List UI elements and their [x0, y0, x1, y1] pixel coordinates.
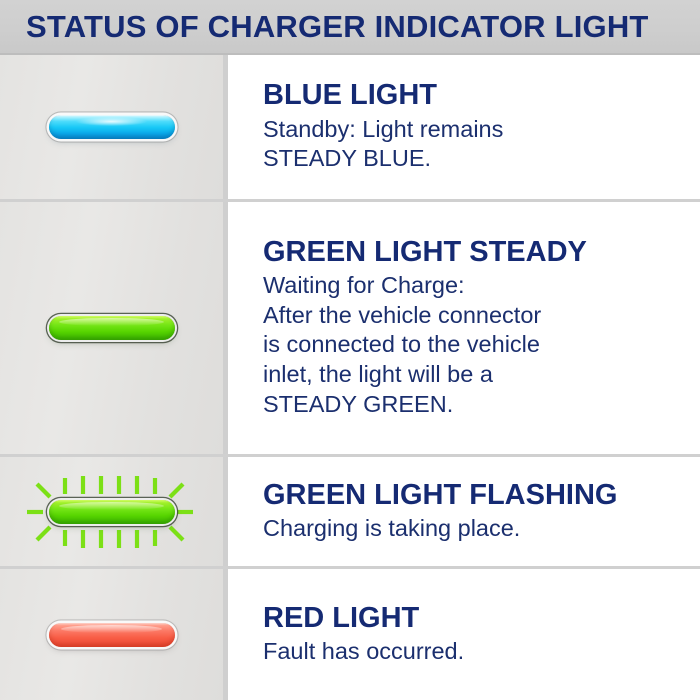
- icon-cell-green-flashing: [0, 457, 228, 566]
- icon-cell-red: [0, 569, 228, 700]
- text-cell-red: RED LIGHT Fault has occurred.: [228, 569, 700, 700]
- led-indicator-red-fault: [17, 589, 207, 681]
- icon-cell-green-steady: [0, 202, 228, 454]
- led-indicator-blue-steady: [17, 81, 207, 173]
- header-bar: STATUS OF CHARGER INDICATOR LIGHT: [0, 0, 700, 55]
- led-pill-green-flashing: [49, 500, 175, 524]
- table-row: GREEN LIGHT FLASHING Charging is taking …: [0, 457, 700, 569]
- table-row: GREEN LIGHT STEADY Waiting for Charge: A…: [0, 202, 700, 457]
- table-row: RED LIGHT Fault has occurred.: [0, 569, 700, 700]
- status-description: Charging is taking place.: [263, 514, 688, 544]
- led-pill-red: [49, 623, 175, 647]
- text-cell-blue: BLUE LIGHT Standby: Light remains STEADY…: [228, 55, 700, 199]
- status-description: Fault has occurred.: [263, 637, 688, 667]
- icon-cell-blue: [0, 55, 228, 199]
- led-indicator-green-flashing: [17, 466, 207, 558]
- status-description: Standby: Light remains STEADY BLUE.: [263, 115, 688, 174]
- status-title: GREEN LIGHT STEADY: [263, 237, 688, 268]
- led-indicator-green-steady: [17, 282, 207, 374]
- text-cell-green-steady: GREEN LIGHT STEADY Waiting for Charge: A…: [228, 202, 700, 454]
- status-title: BLUE LIGHT: [263, 80, 688, 111]
- led-pill-green: [49, 316, 175, 340]
- status-row-list: BLUE LIGHT Standby: Light remains STEADY…: [0, 55, 700, 700]
- led-pill-blue: [49, 115, 175, 139]
- status-title: GREEN LIGHT FLASHING: [263, 480, 688, 511]
- table-row: BLUE LIGHT Standby: Light remains STEADY…: [0, 55, 700, 202]
- charger-indicator-status-infographic: STATUS OF CHARGER INDICATOR LIGHT BLUE L…: [0, 0, 700, 700]
- status-title: RED LIGHT: [263, 603, 688, 634]
- text-cell-green-flashing: GREEN LIGHT FLASHING Charging is taking …: [228, 457, 700, 566]
- page-title: STATUS OF CHARGER INDICATOR LIGHT: [0, 11, 649, 42]
- status-description: Waiting for Charge: After the vehicle co…: [263, 271, 688, 419]
